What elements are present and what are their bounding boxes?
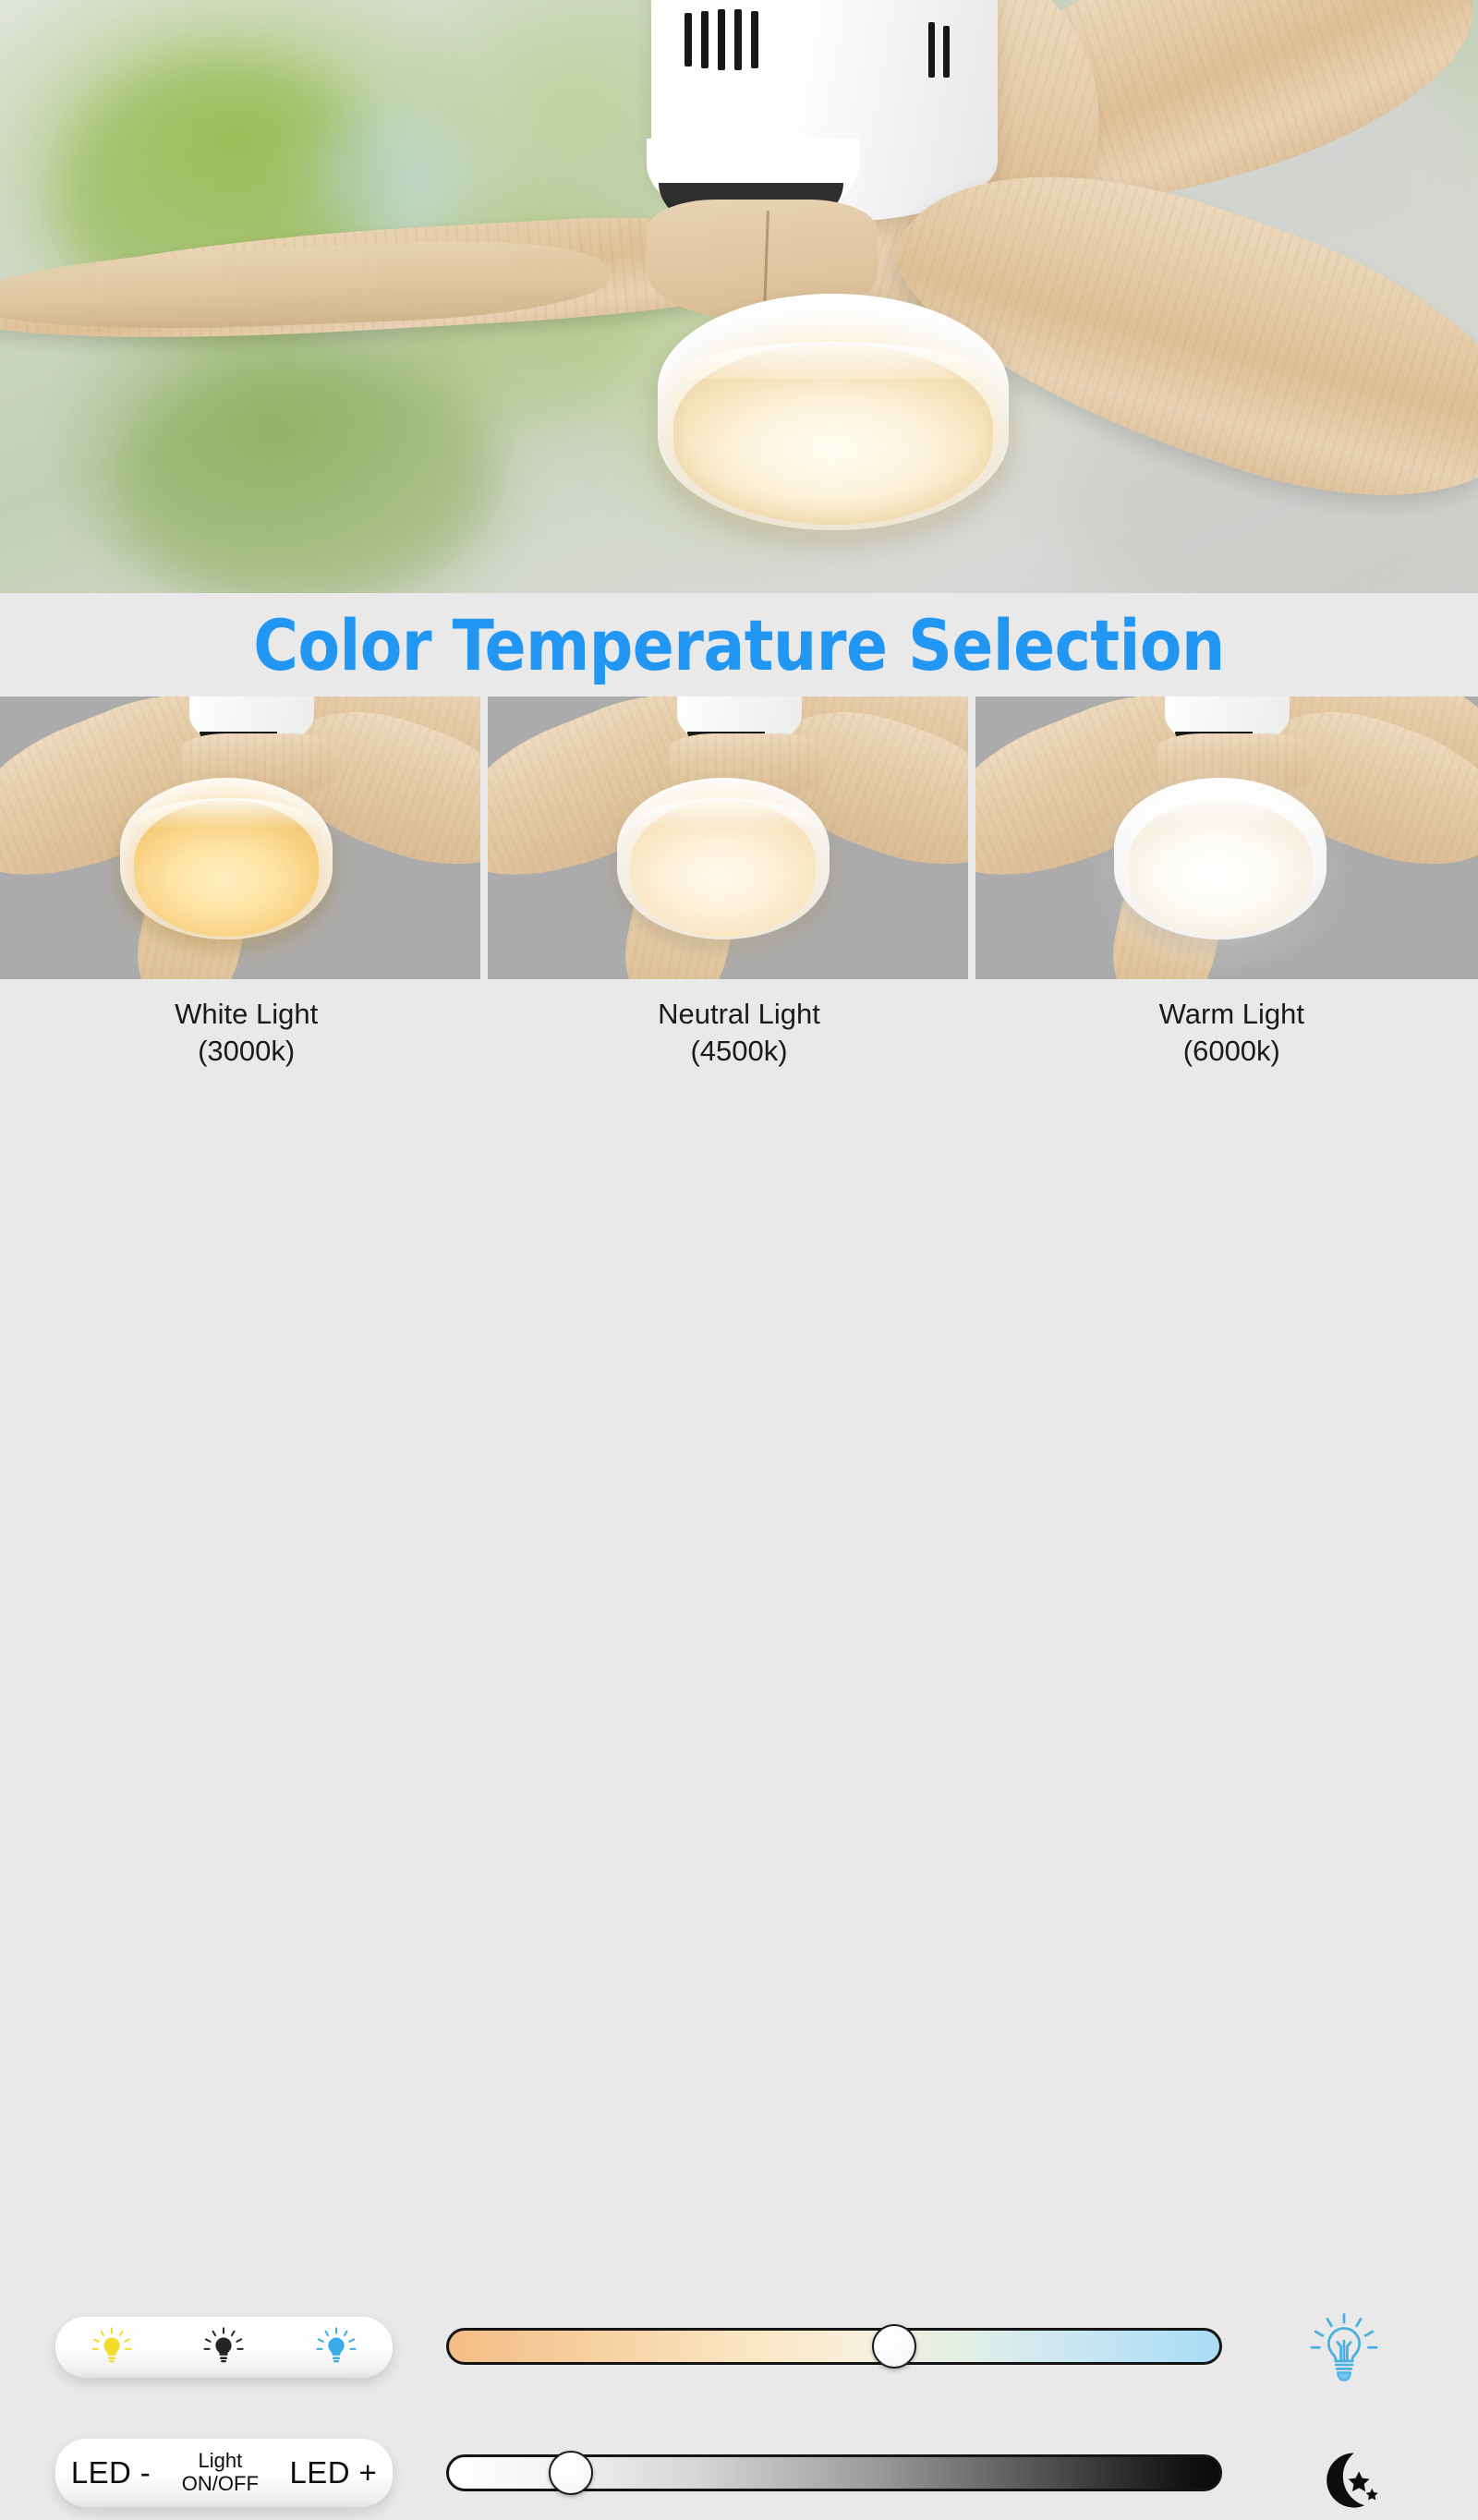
color-temperature-slider-thumb[interactable] — [872, 2324, 916, 2369]
caption-kelvin: (4500k) — [492, 1033, 985, 1070]
warm-bulb-icon[interactable] — [79, 2326, 144, 2369]
brightness-slider-thumb[interactable] — [549, 2451, 593, 2495]
moon-stars-icon — [1293, 2443, 1395, 2517]
white-light-thumbnail — [0, 697, 480, 979]
led-minus-button[interactable]: LED - — [71, 2455, 151, 2490]
neutral-bulb-icon[interactable] — [191, 2326, 256, 2369]
hero-product-photo — [0, 0, 1478, 593]
color-temperature-slider-track[interactable] — [446, 2328, 1222, 2365]
caption-name: White Light — [175, 998, 318, 1030]
caption-name: Warm Light — [1159, 998, 1304, 1030]
neutral-light-thumbnail — [488, 697, 968, 979]
caption-name: Neutral Light — [658, 998, 820, 1030]
caption-white-light: White Light (3000k) — [0, 979, 492, 1099]
caption-kelvin: (6000k) — [986, 1033, 1478, 1070]
color-temperature-button-group[interactable] — [55, 2317, 393, 2378]
lightbulb-icon — [1293, 2316, 1395, 2381]
title-band: Color Temperature Selection — [0, 593, 1478, 697]
sky-blob — [314, 111, 462, 240]
light-on-off-label-line2: ON/OFF — [182, 2473, 259, 2496]
caption-kelvin: (3000k) — [0, 1033, 492, 1070]
foliage-blob — [111, 351, 499, 593]
caption-warm-light: Warm Light (6000k) — [986, 979, 1478, 1099]
led-button-group[interactable]: LED - Light ON/OFF LED + — [55, 2439, 393, 2507]
page-title: Color Temperature Selection — [253, 604, 1224, 686]
color-temperature-thumbnail-strip — [0, 697, 1478, 979]
thumbnail-captions: White Light (3000k) Neutral Light (4500k… — [0, 979, 1478, 1099]
cool-bulb-icon[interactable] — [304, 2326, 369, 2369]
caption-neutral-light: Neutral Light (4500k) — [492, 979, 985, 1099]
light-on-off-button[interactable]: Light ON/OFF — [182, 2450, 259, 2495]
remote-control-panel: LED - Light ON/OFF LED + — [0, 1132, 1478, 1436]
led-plus-button[interactable]: LED + — [290, 2455, 378, 2490]
warm-light-thumbnail — [975, 697, 1478, 979]
light-on-off-label-line1: Light — [182, 2450, 259, 2473]
